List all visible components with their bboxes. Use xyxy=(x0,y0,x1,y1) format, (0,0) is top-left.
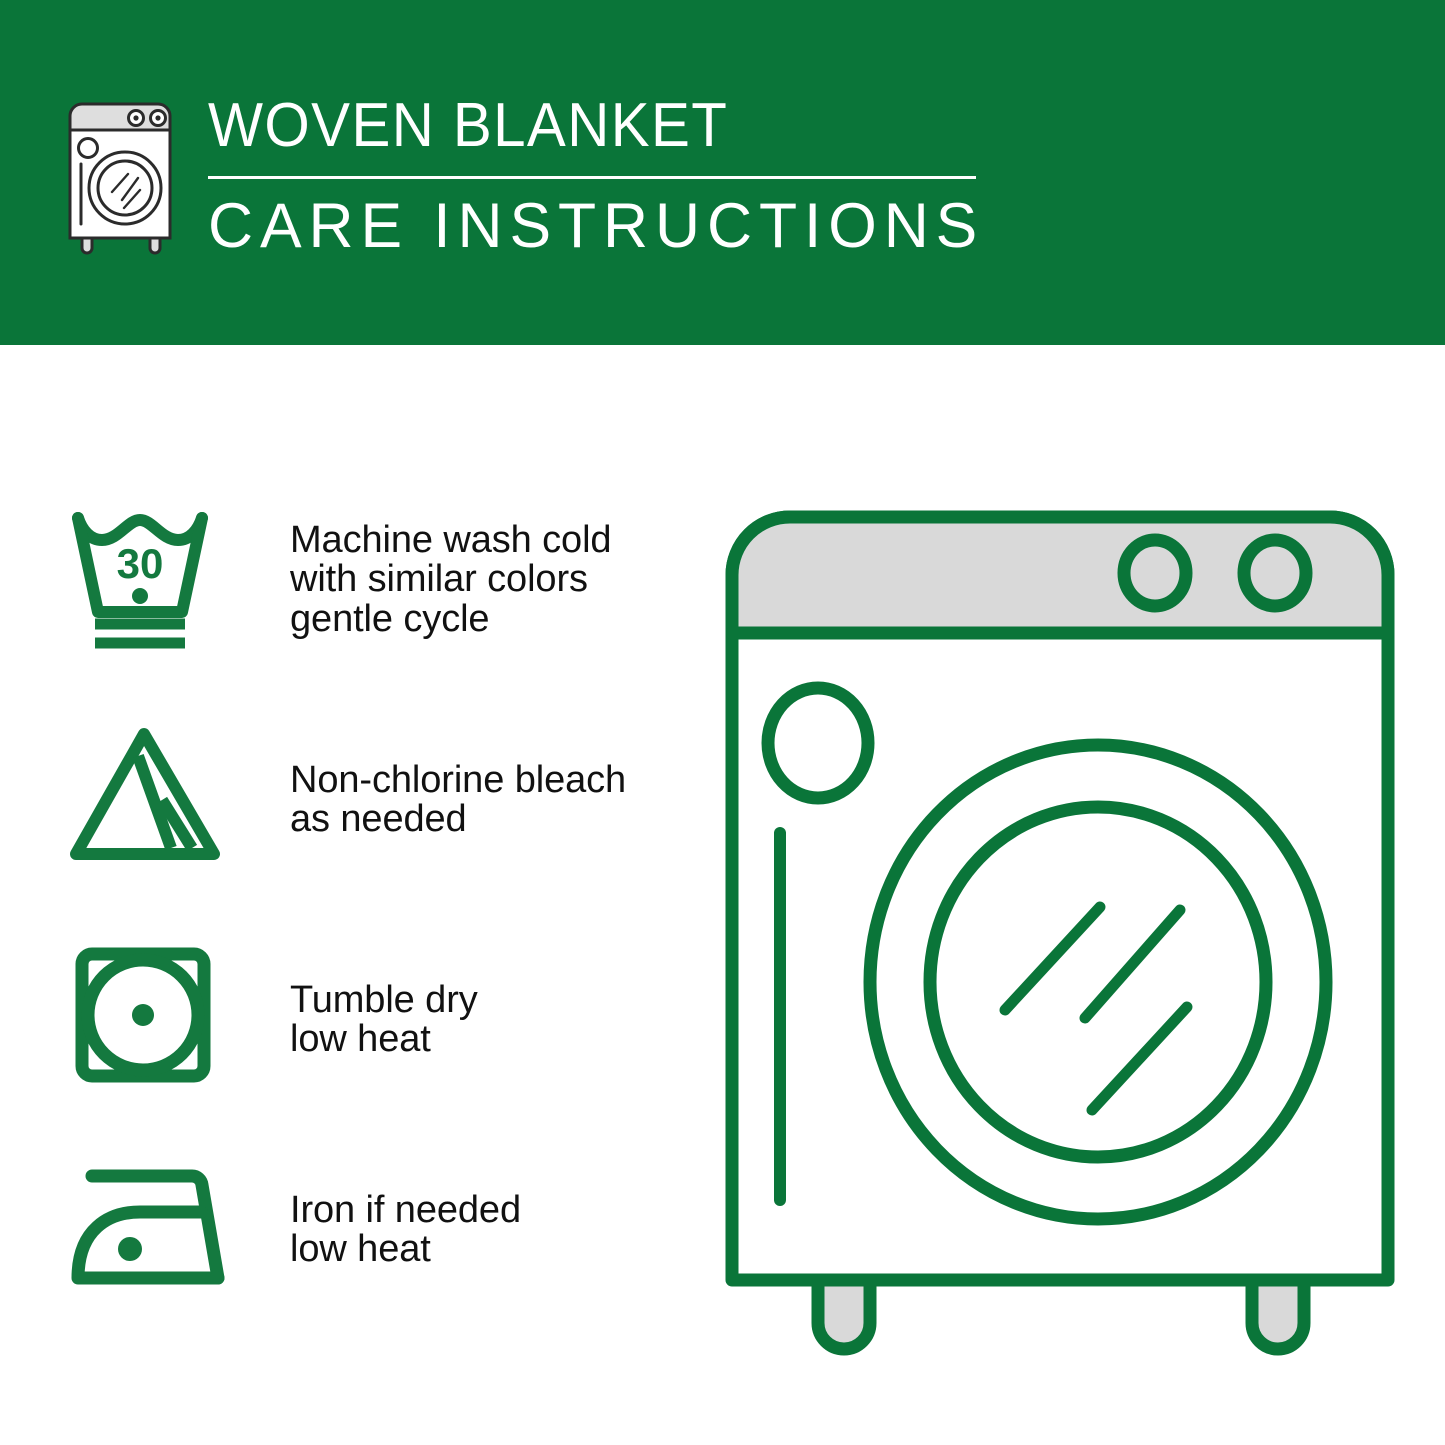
foot-left xyxy=(818,1280,870,1349)
wash-temperature-label: 30 xyxy=(117,540,164,587)
wash-tub-30-gentle-icon: 30 xyxy=(68,495,238,665)
care-label-iron: Iron if needed low heat xyxy=(290,1191,521,1270)
title-divider xyxy=(208,176,976,179)
header-banner: WOVEN BLANKET CARE INSTRUCTIONS xyxy=(0,0,1445,345)
care-instructions-page: WOVEN BLANKET CARE INSTRUCTIONS 30 xyxy=(0,0,1445,1445)
care-row-machine-wash: 30 Machine wash cold with similar colors… xyxy=(0,485,640,675)
tumble-dry-low-heat-icon xyxy=(68,935,238,1105)
page-title-secondary: CARE INSTRUCTIONS xyxy=(208,189,990,263)
care-row-bleach: Non-chlorine bleach as needed xyxy=(0,705,640,895)
care-label-tumble-dry: Tumble dry low heat xyxy=(290,981,478,1060)
foot-right xyxy=(1252,1280,1304,1349)
front-load-washing-machine-illustration xyxy=(700,455,1420,1385)
care-instruction-list: 30 Machine wash cold with similar colors… xyxy=(0,345,660,1445)
knob-left xyxy=(1124,540,1186,606)
knob-right xyxy=(1244,540,1306,606)
care-row-tumble-dry: Tumble dry low heat xyxy=(0,925,640,1115)
page-title-primary: WOVEN BLANKET xyxy=(208,90,951,162)
washing-machine-icon xyxy=(62,96,188,256)
iron-low-heat-icon xyxy=(68,1145,238,1315)
header-title-block: WOVEN BLANKET CARE INSTRUCTIONS xyxy=(208,90,998,263)
care-row-iron: Iron if needed low heat xyxy=(0,1135,640,1325)
care-label-machine-wash: Machine wash cold with similar colors ge… xyxy=(290,521,611,640)
care-label-bleach: Non-chlorine bleach as needed xyxy=(290,761,626,840)
detergent-dispenser-circle xyxy=(768,688,868,798)
triangle-non-chlorine-bleach-icon xyxy=(68,715,238,885)
